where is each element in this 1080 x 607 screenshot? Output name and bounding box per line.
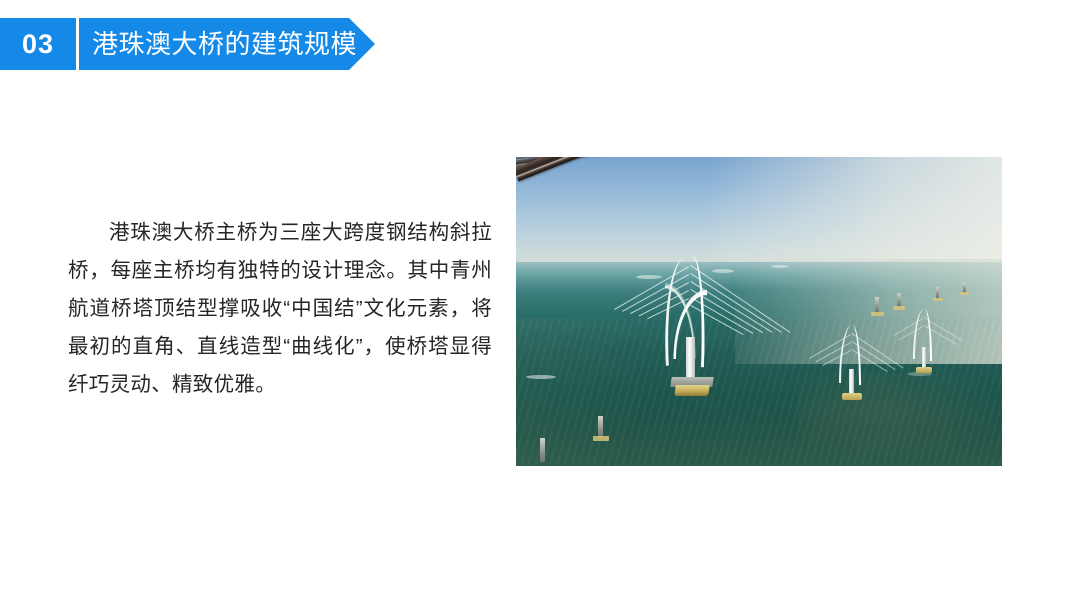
- viaduct-pier: [897, 293, 901, 307]
- photo-water-glow: [798, 373, 1002, 466]
- boat-wake: [526, 375, 556, 379]
- body-paragraph: 港珠澳大桥主桥为三座大跨度钢结构斜拉桥，每座主桥均有独特的设计理念。其中青州航道…: [68, 214, 492, 404]
- boat-wake: [771, 265, 789, 268]
- pylon-foundation: [916, 367, 932, 373]
- body-text-block: 港珠澳大桥主桥为三座大跨度钢结构斜拉桥，每座主桥均有独特的设计理念。其中青州航道…: [68, 214, 492, 404]
- viaduct-pier-foot: [933, 298, 943, 301]
- section-number-label: 03: [22, 31, 54, 58]
- pylon-foundation: [674, 385, 710, 396]
- page-title: 港珠澳大桥的建筑规模: [92, 31, 357, 57]
- viaduct-pier-foot: [893, 306, 905, 310]
- third-pylon-tower: [908, 309, 942, 383]
- viaduct-pier-foot: [593, 436, 609, 441]
- bridge-photo: [516, 157, 1002, 466]
- banner-divider: [76, 18, 79, 70]
- viaduct-pier-foot: [960, 292, 969, 295]
- main-pylon-tower: [659, 255, 729, 395]
- title-arrow-plate: 港珠澳大桥的建筑规模: [79, 18, 375, 70]
- section-number-badge: 03: [0, 18, 76, 70]
- viaduct-pier: [598, 416, 603, 438]
- second-pylon-tower: [833, 325, 873, 407]
- viaduct-pier: [540, 438, 545, 462]
- pylon-foundation: [842, 393, 862, 400]
- viaduct-pier: [875, 297, 879, 313]
- viaduct-pier-foot: [871, 312, 884, 316]
- header-banner: 03 港珠澳大桥的建筑规模: [0, 18, 375, 70]
